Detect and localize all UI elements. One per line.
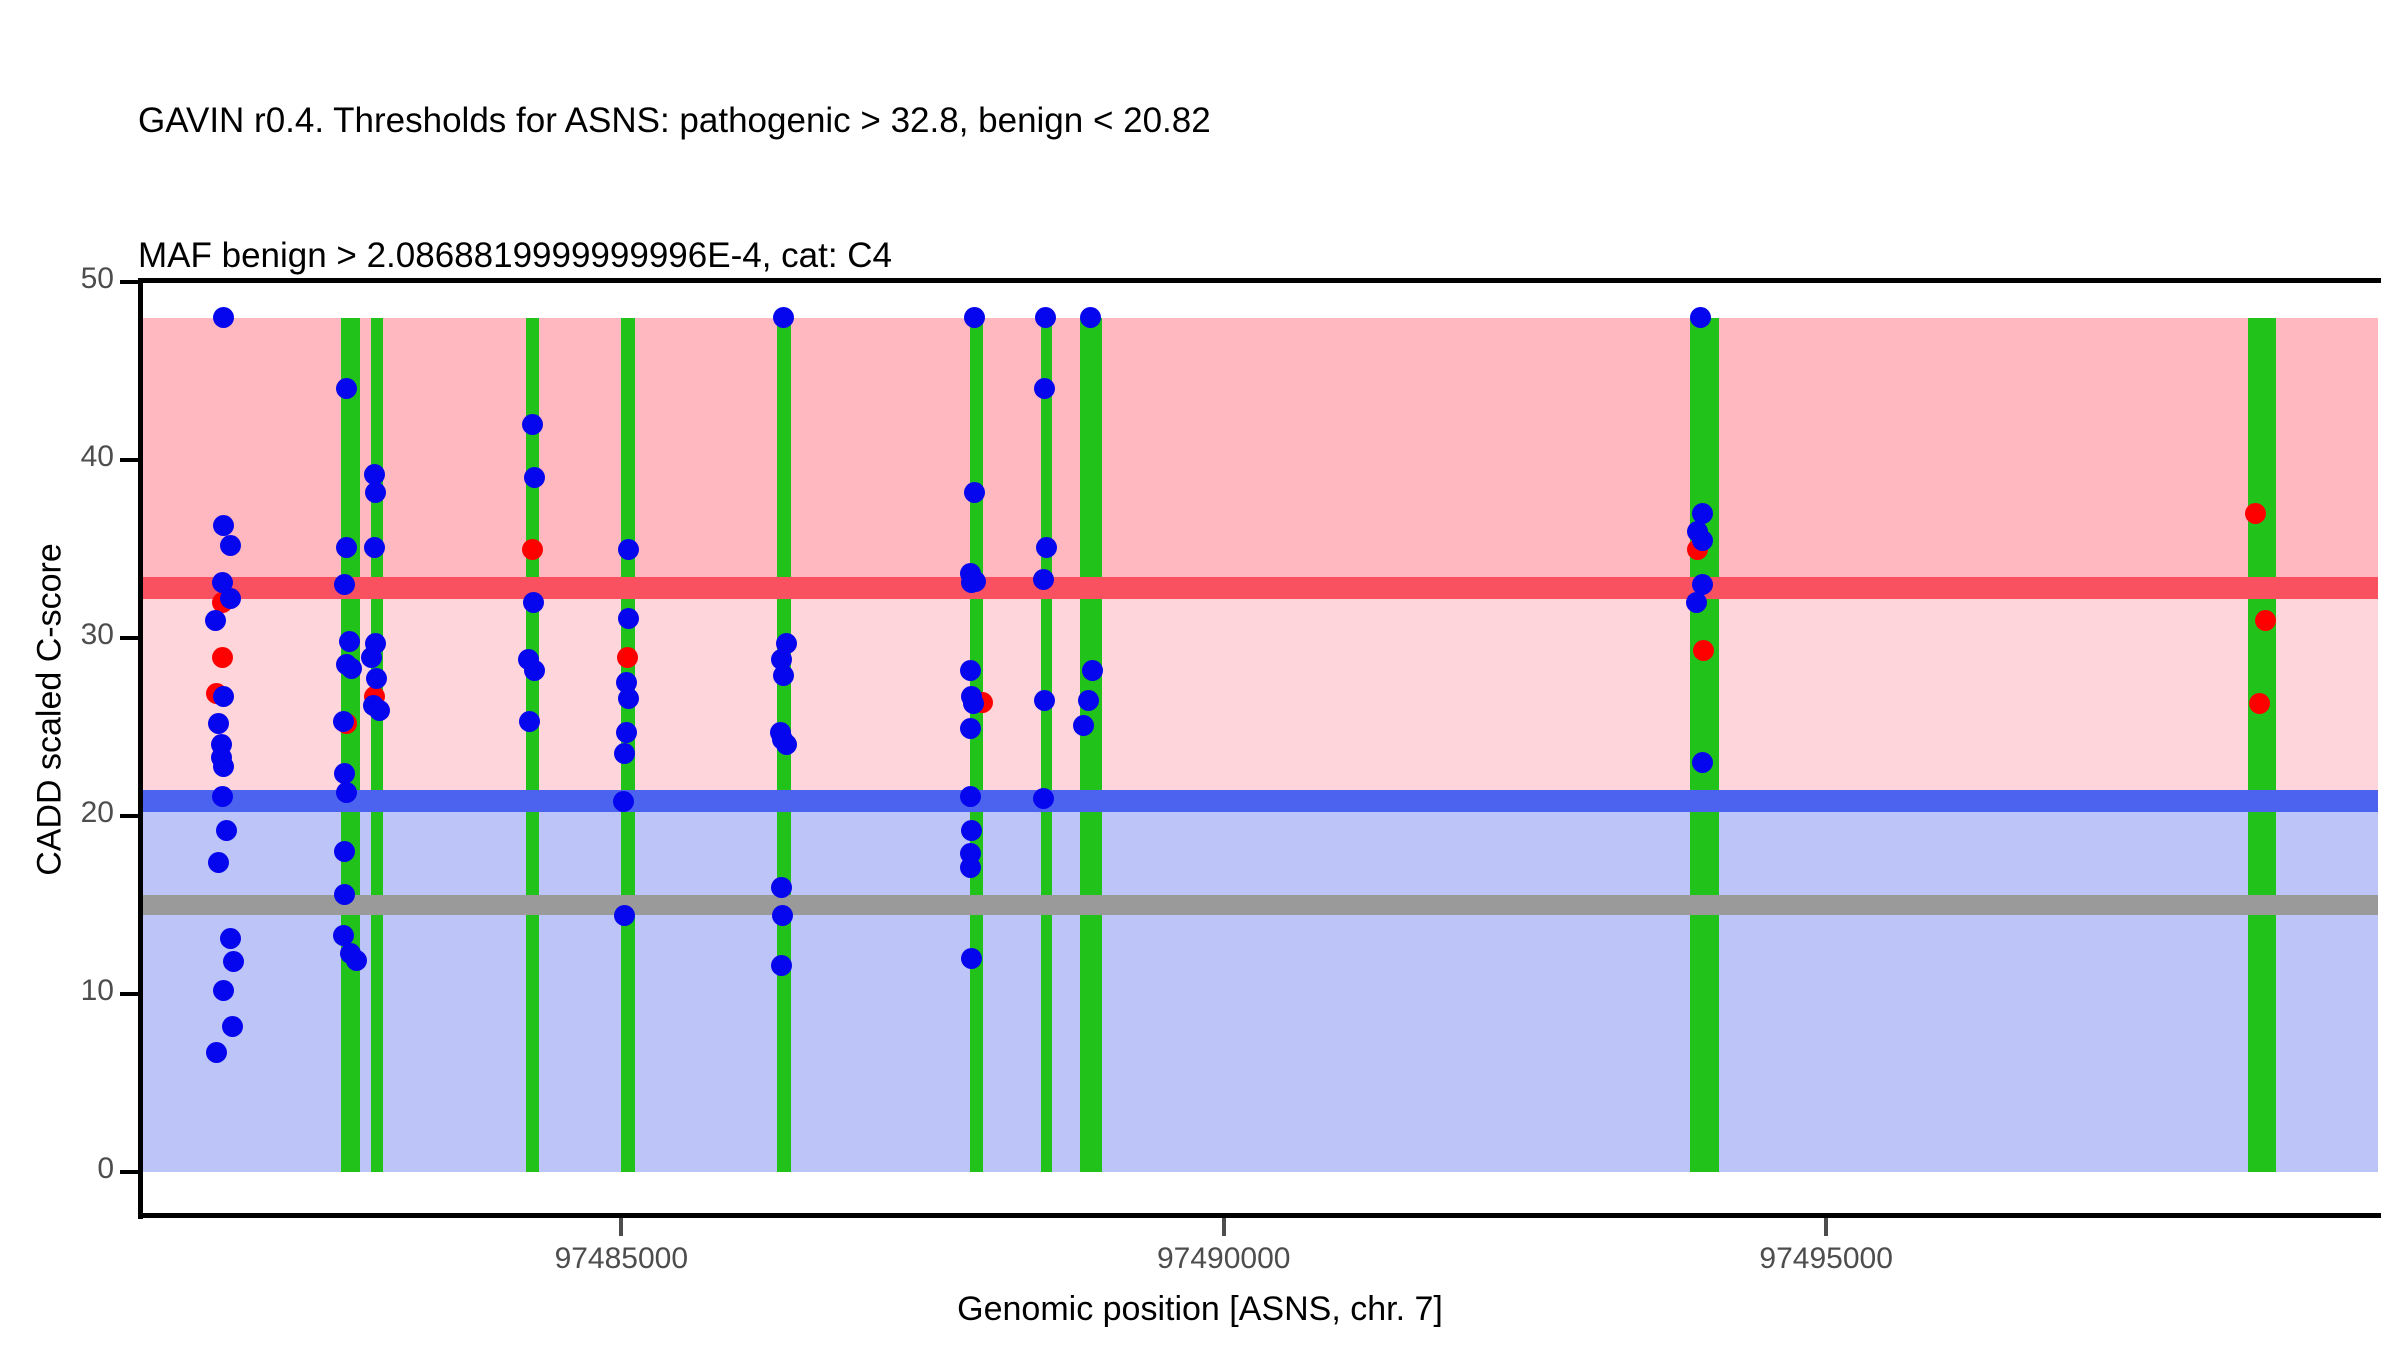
- gnomad-variant-point: [1034, 690, 1055, 711]
- clinvar-pathogenic-point: [2255, 610, 2276, 631]
- y-axis-tick-label: 0: [4, 1152, 114, 1186]
- gnomad-variant-point: [964, 307, 985, 328]
- gnomad-variant-point: [523, 592, 544, 613]
- gnomad-variant-point: [522, 414, 543, 435]
- gnomad-variant-point: [618, 539, 639, 560]
- exon-bar: [1690, 318, 1719, 1172]
- plot-root: GAVIN r0.4. Thresholds for ASNS: pathoge…: [0, 0, 2400, 1350]
- gnomad-variant-point: [1686, 592, 1707, 613]
- y-axis-tick-label: 10: [4, 974, 114, 1008]
- benign-threshold-line: [143, 790, 2378, 812]
- x-axis-tick: [1222, 1218, 1226, 1236]
- gnomad-variant-point: [365, 482, 386, 503]
- y-axis-tick: [120, 636, 138, 640]
- x-axis-tick-label: 97490000: [1104, 1242, 1344, 1276]
- gnomad-variant-point: [334, 841, 355, 862]
- gnomad-variant-point: [616, 722, 637, 743]
- gnomad-variant-point: [1082, 660, 1103, 681]
- exon-bar: [371, 318, 383, 1172]
- gnomad-variant-point: [1692, 530, 1713, 551]
- y-axis-tick-label: 50: [4, 262, 114, 296]
- gnomad-variant-point: [334, 884, 355, 905]
- x-axis-tick: [619, 1218, 623, 1236]
- x-axis-title: Genomic position [ASNS, chr. 7]: [0, 1290, 2400, 1329]
- y-axis-tick: [120, 992, 138, 996]
- gnomad-variant-point: [222, 1016, 243, 1037]
- title-line-1: GAVIN r0.4. Thresholds for ASNS: pathoge…: [138, 98, 2338, 143]
- gnomad-variant-point: [618, 608, 639, 629]
- gnomad-variant-point: [963, 693, 984, 714]
- gnomad-variant-point: [524, 660, 545, 681]
- x-axis-tick: [1824, 1218, 1828, 1236]
- gnomad-variant-point: [364, 537, 385, 558]
- x-axis-tick-label: 97495000: [1706, 1242, 1946, 1276]
- gnomad-variant-point: [205, 610, 226, 631]
- gnomad-variant-point: [346, 950, 367, 971]
- gnomad-variant-point: [339, 631, 360, 652]
- gnomad-variant-point: [212, 786, 233, 807]
- x-axis-tick-label: 97485000: [501, 1242, 741, 1276]
- gnomad-variant-point: [1035, 307, 1056, 328]
- exon-bar: [1080, 318, 1102, 1172]
- gnomad-variant-point: [369, 700, 390, 721]
- exon-bar: [2248, 318, 2276, 1172]
- gnomad-variant-point: [960, 786, 981, 807]
- exon-bar: [970, 318, 983, 1172]
- fallback-threshold-line: [143, 895, 2378, 915]
- gnomad-variant-point: [618, 688, 639, 709]
- gnomad-variant-point: [333, 711, 354, 732]
- gnomad-variant-point: [213, 756, 234, 777]
- clinvar-pathogenic-point: [617, 647, 638, 668]
- y-axis-tick: [120, 280, 138, 284]
- gnomad-variant-point: [1033, 788, 1054, 809]
- y-axis-title-wrap: CADD scaled C-score: [0, 0, 1, 1]
- gnomad-variant-point: [334, 574, 355, 595]
- gnomad-variant-point: [960, 660, 981, 681]
- gnomad-variant-point: [1033, 569, 1054, 590]
- band-benign: [143, 801, 2378, 1172]
- y-axis-tick: [120, 814, 138, 818]
- clinvar-pathogenic-point: [522, 539, 543, 560]
- gnomad-variant-point: [216, 820, 237, 841]
- gnomad-variant-point: [334, 763, 355, 784]
- band-vus: [143, 588, 2378, 801]
- clinvar-pathogenic-point: [2245, 503, 2266, 524]
- y-axis-tick: [120, 458, 138, 462]
- panel-top-border: [138, 278, 2381, 283]
- gnomad-variant-point: [1692, 752, 1713, 773]
- gnomad-variant-point: [1078, 690, 1099, 711]
- gnomad-variant-point: [771, 877, 792, 898]
- gnomad-variant-point: [1034, 378, 1055, 399]
- clinvar-pathogenic-point: [1693, 640, 1714, 661]
- gnomad-variant-point: [964, 482, 985, 503]
- band-pathogenic: [143, 318, 2378, 589]
- plot-data-area: [143, 285, 2378, 1213]
- y-axis-tick: [120, 1170, 138, 1174]
- gnomad-variant-point: [771, 955, 792, 976]
- gnomad-variant-point: [336, 537, 357, 558]
- clinvar-pathogenic-point: [212, 647, 233, 668]
- gnomad-variant-point: [1036, 537, 1057, 558]
- gnomad-variant-point: [213, 980, 234, 1001]
- exon-bar: [341, 318, 360, 1172]
- y-axis-title: CADD scaled C-score: [31, 450, 70, 970]
- x-axis-line: [138, 1213, 2381, 1218]
- gnomad-variant-point: [341, 658, 362, 679]
- gnomad-variant-point: [1080, 307, 1101, 328]
- exon-bar: [1041, 318, 1052, 1172]
- title-line-2: MAF benign > 2.0868819999999996E-4, cat:…: [138, 233, 2338, 278]
- exon-bar: [526, 318, 539, 1172]
- pathogenic-threshold-line: [143, 577, 2378, 599]
